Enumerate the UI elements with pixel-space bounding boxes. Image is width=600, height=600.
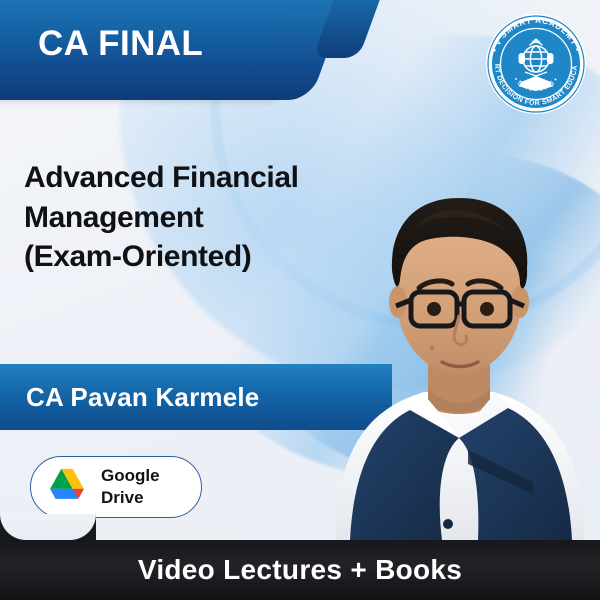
vsmart-academy-logo: • V'SMART ACADEMY • SMART DECISION FOR S… [484, 12, 588, 116]
google-drive-icon [45, 467, 89, 507]
course-thumbnail: CA FINAL • V'SMART ACADEMY • SMART DECIS… [0, 0, 600, 600]
course-level-label: CA FINAL [38, 26, 203, 61]
footer-offer-label: Video Lectures + Books [138, 554, 462, 586]
google-drive-badge[interactable]: Google Drive [30, 456, 202, 518]
google-drive-label: Google Drive [101, 465, 160, 509]
faculty-portrait [318, 120, 600, 540]
faculty-name: CA Pavan Karmele [26, 382, 259, 413]
google-drive-label-line-1: Google [101, 465, 160, 487]
google-drive-label-line-2: Drive [101, 487, 160, 509]
footer-bar: Video Lectures + Books [0, 540, 600, 600]
footer-corner-notch [0, 514, 96, 540]
